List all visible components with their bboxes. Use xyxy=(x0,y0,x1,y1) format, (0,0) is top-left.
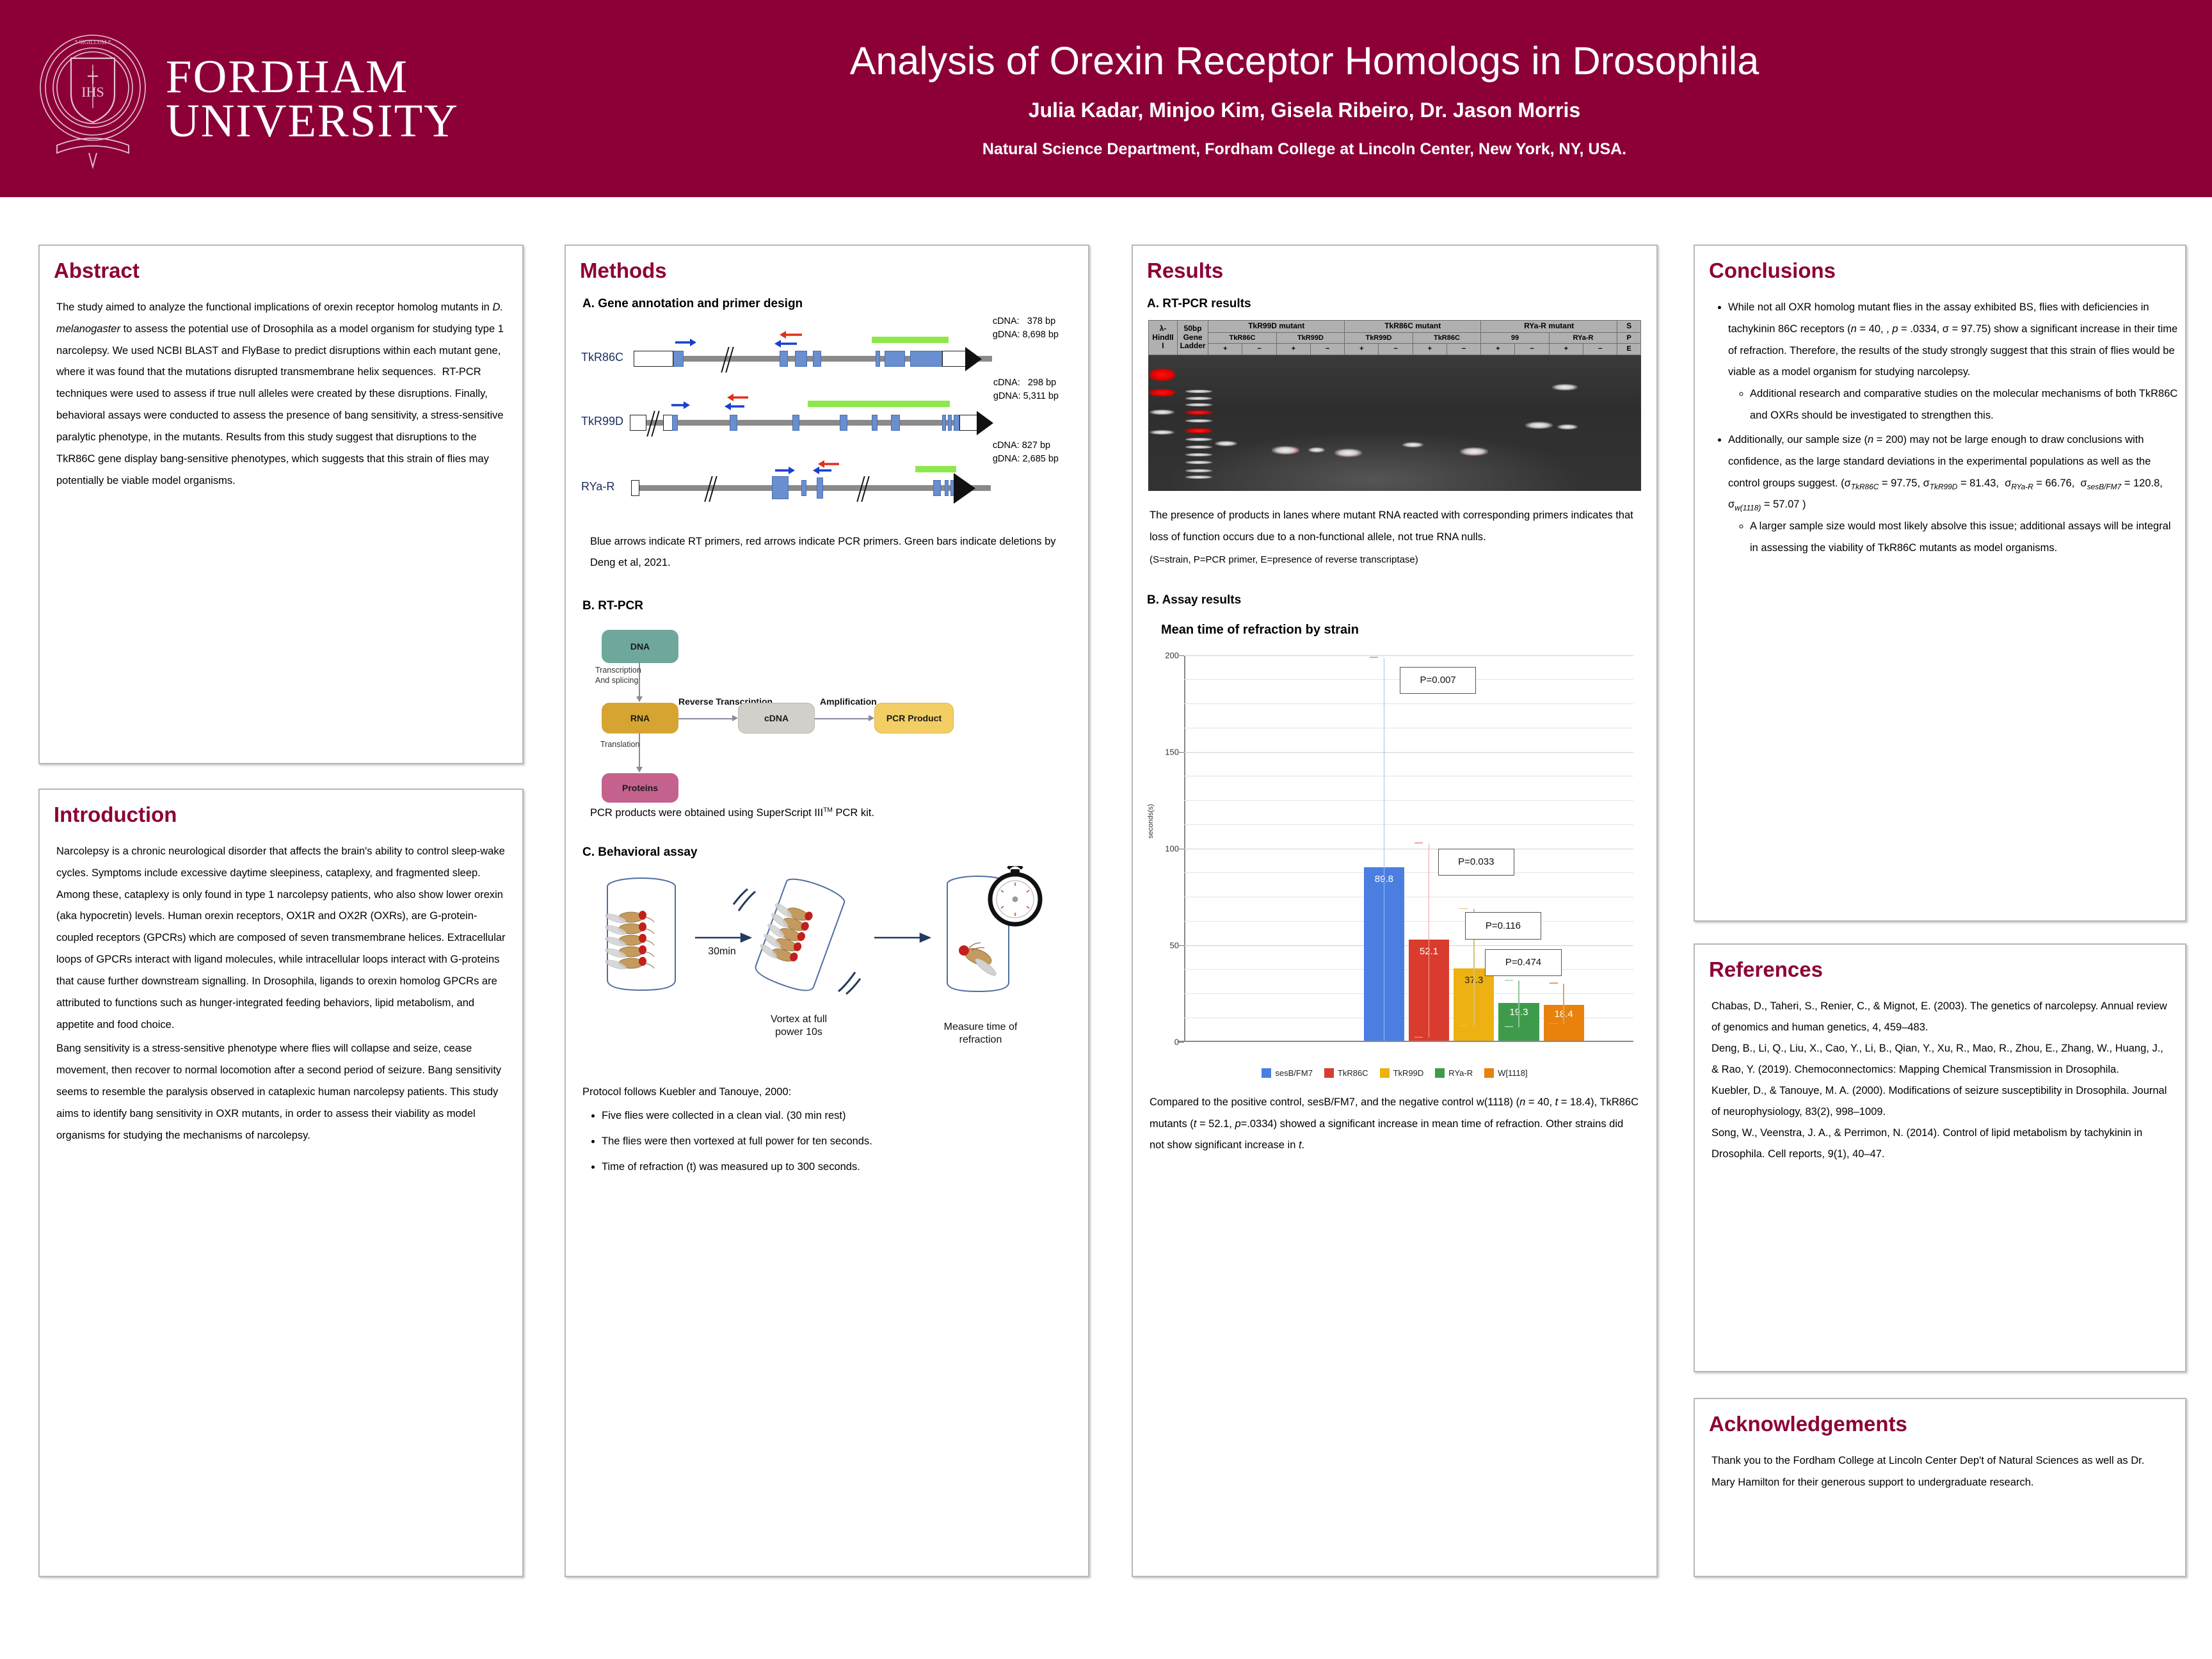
poster-title: Analysis of Orexin Receptor Homologs in … xyxy=(474,38,2135,83)
chart-ytick: 50 xyxy=(1170,940,1179,950)
reference-item: Kuebler, D., & Tanouye, M. A. (2000). Mo… xyxy=(1711,1080,2168,1123)
svg-text:power 10s: power 10s xyxy=(775,1027,822,1038)
flow-node-cdna: cDNA xyxy=(738,703,815,733)
gel-band xyxy=(1525,422,1553,429)
gel-rt-plus: + xyxy=(1208,344,1242,355)
gel-rt-minus: − xyxy=(1583,344,1617,355)
flow-node-dna: DNA xyxy=(602,630,678,663)
gel-row-key-p: P xyxy=(1617,332,1641,344)
chart-ytick: 200 xyxy=(1165,650,1179,660)
pvalue-box-sesb: P=0.007 xyxy=(1400,667,1476,694)
gel-primer-tkr86c: TkR86C xyxy=(1208,332,1277,344)
deletion-bar xyxy=(808,401,950,407)
reference-item: Song, W., Veenstra, J. A., & Perrimon, N… xyxy=(1711,1123,2168,1165)
exon xyxy=(813,351,821,367)
introduction-panel: Introduction Narcolepsy is a chronic neu… xyxy=(38,789,524,1577)
gene-break xyxy=(649,411,658,437)
methods-section-a-heading: A. Gene annotation and primer design xyxy=(582,297,1088,311)
legend-swatch xyxy=(1324,1068,1334,1078)
error-bar xyxy=(1563,984,1564,1024)
arrow-to-measure xyxy=(874,934,929,942)
introduction-heading: Introduction xyxy=(54,803,522,827)
arrow-30min xyxy=(695,934,750,942)
title-block: Analysis of Orexin Receptor Homologs in … xyxy=(474,38,2212,159)
exon xyxy=(840,415,847,431)
gel-rt-minus: − xyxy=(1379,344,1413,355)
fordham-seal-icon: IHS * SIGILLUM * xyxy=(35,25,150,172)
table-row: TkR86C TkR99D TkR99D TkR86C 99 RYa-R P xyxy=(1149,332,1641,344)
legend-item: W[1118] xyxy=(1484,1068,1527,1078)
exon xyxy=(954,415,959,431)
exon xyxy=(948,415,952,431)
error-bar-cap xyxy=(1505,1026,1513,1027)
exon xyxy=(801,480,806,496)
gel-band xyxy=(1150,369,1175,381)
exon xyxy=(772,476,789,499)
gel-lane-table: λ-HindIII 50bpGeneLadder TkR99D mutant T… xyxy=(1148,320,1641,355)
error-bar-cap xyxy=(1550,1023,1558,1025)
exon xyxy=(817,477,823,499)
utr-5prime xyxy=(631,480,639,496)
conclusions-panel: Conclusions While not all OXR homolog mu… xyxy=(1694,244,2186,922)
conclusion-bullet-2: Additionally, our sample size (n = 200) … xyxy=(1728,429,2179,559)
assay-conclusion-text: Compared to the positive control, sesB/F… xyxy=(1150,1092,1640,1157)
error-bar-cap xyxy=(1505,980,1513,981)
flow-label-amplification: Amplification xyxy=(820,696,877,708)
poster-header-banner: IHS * SIGILLUM * FORDHAM UNIVERSITY Anal… xyxy=(0,0,2212,197)
legend-item: RYa-R xyxy=(1435,1068,1473,1078)
flow-arrow-head xyxy=(636,767,643,773)
protocol-list: Five flies were collected in a clean via… xyxy=(602,1104,1071,1180)
exon xyxy=(891,415,900,431)
gel-result-text: The presence of products in lanes where … xyxy=(1150,505,1640,549)
svg-text:refraction: refraction xyxy=(959,1034,1002,1045)
gel-rt-plus: + xyxy=(1345,344,1379,355)
conclusions-list: While not all OXR homolog mutant flies i… xyxy=(1728,297,2179,559)
reference-item: Chabas, D., Taheri, S., Renier, C., & Mi… xyxy=(1711,996,2168,1038)
rt-primer-forward-arrow xyxy=(774,466,795,475)
gel-primer-99: 99 xyxy=(1481,332,1550,344)
exon xyxy=(872,415,878,431)
results-heading: Results xyxy=(1147,259,1656,283)
mean-refraction-bar-chart: seconds(s) 200 150 10 xyxy=(1144,646,1645,1082)
gel-band xyxy=(1552,384,1578,391)
chart-title: Mean time of refraction by strain xyxy=(1161,623,1656,637)
gel-electrophoresis-image xyxy=(1148,355,1641,491)
author-list: Julia Kadar, Minjoo Kim, Gisela Ribeiro,… xyxy=(474,99,2135,122)
error-bar-cap xyxy=(1459,908,1468,910)
pcr-kit-caption: PCR products were obtained using SuperSc… xyxy=(590,803,1064,824)
pcr-primer-reverse-arrow xyxy=(726,393,749,402)
introduction-paragraph-1: Narcolepsy is a chronic neurological dis… xyxy=(56,841,506,1036)
svg-text:* SIGILLUM *: * SIGILLUM * xyxy=(75,39,111,45)
gene-label-tkr86c: TkR86C xyxy=(581,351,623,364)
gene-diagram-caption: Blue arrows indicate RT primers, red arr… xyxy=(590,531,1064,573)
university-branding: IHS * SIGILLUM * FORDHAM UNIVERSITY xyxy=(0,25,474,172)
flow-node-proteins: Proteins xyxy=(602,773,678,803)
gel-band xyxy=(1460,447,1487,456)
conclusion-sublist-1: Additional research and comparative stud… xyxy=(1750,383,2179,427)
gel-row-key-s: S xyxy=(1617,321,1641,333)
gel-band xyxy=(1150,389,1175,396)
legend-item: TkR99D xyxy=(1380,1068,1424,1078)
wordmark-line-2: UNIVERSITY xyxy=(166,99,459,143)
exon xyxy=(730,415,737,431)
deletion-bar xyxy=(915,466,956,472)
gel-band xyxy=(1557,424,1578,429)
abstract-panel: Abstract The study aimed to analyze the … xyxy=(38,244,524,764)
chart-plot-area: 200 150 100 50 0 89.8 52.1 xyxy=(1184,655,1633,1042)
rt-primer-forward-arrow xyxy=(675,338,696,347)
gel-col-lambda: λ-HindIII xyxy=(1149,321,1178,355)
svg-text:Measure time of: Measure time of xyxy=(944,1022,1018,1032)
rt-primer-reverse-arrow xyxy=(812,466,832,475)
methods-section-b-heading: B. RT-PCR xyxy=(582,599,1088,613)
trademark-mark: TM xyxy=(823,807,833,814)
chart-x-axis xyxy=(1178,1041,1633,1042)
legend-label: TkR99D xyxy=(1393,1068,1424,1078)
conclusion-sub-1: Additional research and comparative stud… xyxy=(1750,383,2179,427)
legend-swatch xyxy=(1380,1068,1390,1078)
flow-label-transcription: Transcription And splicing xyxy=(595,666,641,685)
gene-direction-arrowhead xyxy=(977,411,993,435)
gel-band xyxy=(1215,441,1237,446)
error-bar-cap xyxy=(1550,982,1558,984)
university-wordmark: FORDHAM UNIVERSITY xyxy=(166,54,459,143)
results-section-a-heading: A. RT-PCR results xyxy=(1147,297,1656,311)
ryar-bp-note: cDNA: 827 bpgDNA: 2,685 bp xyxy=(993,439,1059,466)
error-bar xyxy=(1384,658,1385,1041)
rt-primer-forward-arrow xyxy=(671,401,690,410)
gel-band xyxy=(1402,442,1424,447)
methods-panel: Methods A. Gene annotation and primer de… xyxy=(565,244,1089,1577)
pcr-primer-reverse-arrow xyxy=(777,330,803,339)
vial-tilted-icon xyxy=(749,873,847,995)
exon xyxy=(885,351,905,367)
chart-y-axis-label: seconds(s) xyxy=(1147,804,1155,838)
gene-direction-arrowhead xyxy=(954,473,975,504)
exon xyxy=(945,480,949,496)
gel-rt-minus: − xyxy=(1310,344,1344,355)
results-panel: Results A. RT-PCR results λ-HindIII 50bp… xyxy=(1132,244,1658,1577)
flow-label-translation: Translation xyxy=(600,740,639,750)
legend-label: sesB/FM7 xyxy=(1275,1068,1313,1078)
table-row: λ-HindIII 50bpGeneLadder TkR99D mutant T… xyxy=(1149,321,1641,333)
gel-figure: λ-HindIII 50bpGeneLadder TkR99D mutant T… xyxy=(1148,320,1641,491)
protocol-item: Five flies were collected in a clean via… xyxy=(602,1104,1071,1128)
results-section-b-heading: B. Assay results xyxy=(1147,593,1656,607)
gene-axis xyxy=(630,420,988,426)
protocol-item: Time of refraction (t) was measured up t… xyxy=(602,1155,1071,1180)
exon xyxy=(876,351,880,367)
acknowledgements-text: Thank you to the Fordham College at Linc… xyxy=(1711,1450,2168,1494)
exon xyxy=(933,480,941,496)
gel-rt-plus: + xyxy=(1276,344,1310,355)
flow-node-rna: RNA xyxy=(602,703,678,733)
conclusion-sub-2: A larger sample size would most likely a… xyxy=(1750,516,2179,559)
error-bar xyxy=(1518,981,1519,1027)
chart-ytick: 100 xyxy=(1165,844,1179,853)
exon xyxy=(780,351,788,367)
utr-3prime xyxy=(942,351,966,367)
flow-arrow-line xyxy=(678,718,733,719)
flow-node-pcr-product: PCR Product xyxy=(874,703,954,733)
references-panel: References Chabas, D., Taheri, S., Renie… xyxy=(1694,943,2186,1372)
gel-rt-plus: + xyxy=(1413,344,1447,355)
gel-band xyxy=(1150,430,1174,435)
gel-rt-minus: − xyxy=(1447,344,1480,355)
gel-rt-minus: − xyxy=(1242,344,1276,355)
chart-ytick: 0 xyxy=(1174,1037,1179,1046)
deletion-bar xyxy=(872,337,949,343)
exon xyxy=(792,415,799,431)
pcr-kit-caption-b: PCR kit. xyxy=(833,807,874,819)
legend-label: RYa-R xyxy=(1448,1068,1473,1078)
abstract-text: The study aimed to analyze the functiona… xyxy=(56,297,506,492)
table-row: +− +− +− +− +− +− E xyxy=(1149,344,1641,355)
gel-rt-plus: + xyxy=(1481,344,1515,355)
exon xyxy=(795,351,807,367)
utr-5prime xyxy=(634,351,673,367)
rtpcr-flow-diagram: DNA Transcription And splicing RNA Trans… xyxy=(591,626,1039,799)
gene-label-tkr99d: TkR99D xyxy=(581,415,623,428)
gel-group-tkr86c-mutant: TkR86C mutant xyxy=(1345,321,1481,333)
gene-break xyxy=(859,476,868,502)
gel-key-legend: (S=strain, P=PCR primer, E=presence of r… xyxy=(1150,552,1640,568)
gel-band xyxy=(1334,449,1362,457)
stopwatch-icon xyxy=(990,866,1040,924)
introduction-paragraph-2: Bang sensitivity is a stress-sensitive p… xyxy=(56,1038,506,1146)
pvalue-box-tkr86c: P=0.033 xyxy=(1438,849,1514,876)
utr-5prime xyxy=(630,415,646,431)
legend-label: W[1118] xyxy=(1498,1068,1527,1078)
gel-band xyxy=(1150,410,1174,415)
gel-ladder-lane xyxy=(1185,388,1212,486)
references-heading: References xyxy=(1709,958,2185,982)
exon xyxy=(910,351,942,367)
legend-label: TkR86C xyxy=(1338,1068,1368,1078)
legend-item: sesB/FM7 xyxy=(1262,1068,1313,1078)
legend-item: TkR86C xyxy=(1324,1068,1368,1078)
utr-3prime xyxy=(959,415,977,431)
conclusions-heading: Conclusions xyxy=(1709,259,2185,283)
flow-arrow-head xyxy=(732,715,738,721)
gel-primer-tkr99d: TkR99D xyxy=(1345,332,1413,344)
svg-text:Vortex at full: Vortex at full xyxy=(771,1014,827,1025)
acknowledgements-heading: Acknowledgements xyxy=(1709,1412,2185,1436)
legend-swatch xyxy=(1262,1068,1271,1078)
legend-swatch xyxy=(1435,1068,1445,1078)
gene-track-ryar: cDNA: 827 bpgDNA: 2,685 bp RYa-R xyxy=(577,467,1077,512)
rt-primer-reverse-arrow xyxy=(773,339,797,348)
conclusion-bullet-1: While not all OXR homolog mutant flies i… xyxy=(1728,297,2179,427)
behavioral-assay-illustration: 30min Vortex at full power 10s Measure t… xyxy=(573,866,1080,1077)
exon xyxy=(672,415,678,431)
svg-text:30min: 30min xyxy=(708,946,736,957)
chart-ytick: 150 xyxy=(1165,747,1179,757)
gel-col-ladder: 50bpGeneLadder xyxy=(1177,321,1208,355)
gene-direction-arrowhead xyxy=(965,347,982,371)
svg-text:IHS: IHS xyxy=(81,84,104,100)
protocol-item: The flies were then vortexed at full pow… xyxy=(602,1130,1071,1154)
gel-band xyxy=(1308,447,1325,452)
gene-break xyxy=(707,476,716,502)
chart-legend: sesB/FM7 TkR86C TkR99D RYa-R W[1118] xyxy=(1144,1068,1645,1078)
tkr99d-bp-note: cDNA: 298 bpgDNA: 5,311 bp xyxy=(993,376,1059,403)
gel-primer-tkr99d: TkR99D xyxy=(1276,332,1345,344)
pvalue-box-tkr99d: P=0.116 xyxy=(1465,912,1541,939)
pvalue-box-ryar: P=0.474 xyxy=(1485,949,1561,976)
error-bar-cap xyxy=(1370,657,1378,658)
error-bar-cap xyxy=(1415,1037,1423,1038)
gene-annotation-diagram: cDNA: 378 bpgDNA: 8,698 bp TkR86C xyxy=(577,321,1077,513)
gene-break xyxy=(723,347,732,373)
flow-arrow-line xyxy=(815,718,870,719)
error-bar xyxy=(1429,844,1430,1038)
wordmark-line-1: FORDHAM xyxy=(166,54,459,99)
pcr-kit-caption-a: PCR products were obtained using SuperSc… xyxy=(590,807,823,819)
gene-label-ryar: RYa-R xyxy=(581,480,614,493)
gel-row-key-e: E xyxy=(1617,344,1641,355)
legend-swatch xyxy=(1484,1068,1494,1078)
gel-rt-minus: − xyxy=(1515,344,1549,355)
error-bar-cap xyxy=(1415,842,1423,844)
methods-section-c-heading: C. Behavioral assay xyxy=(582,846,1088,860)
gel-primer-tkr86c: TkR86C xyxy=(1413,332,1481,344)
rt-primer-reverse-arrow xyxy=(723,402,745,411)
tkr86c-bp-note: cDNA: 378 bpgDNA: 8,698 bp xyxy=(993,315,1059,342)
gel-band xyxy=(1272,446,1299,454)
conclusion-sublist-2: A larger sample size would most likely a… xyxy=(1750,516,2179,559)
flow-arrow-head xyxy=(636,696,643,702)
methods-heading: Methods xyxy=(580,259,1088,283)
exon xyxy=(673,351,684,367)
exon xyxy=(942,415,946,431)
gel-primer-ryar: RYa-R xyxy=(1549,332,1617,344)
gel-group-ryar-mutant: RYa-R mutant xyxy=(1481,321,1617,333)
flow-arrow-line xyxy=(639,733,640,768)
gel-group-tkr99d-mutant: TkR99D mutant xyxy=(1208,321,1345,333)
gel-rt-plus: + xyxy=(1549,344,1583,355)
abstract-heading: Abstract xyxy=(54,259,522,283)
protocol-intro: Protocol follows Kuebler and Tanouye, 20… xyxy=(582,1084,1071,1100)
error-bar-cap xyxy=(1459,1025,1468,1027)
reference-item: Deng, B., Li, Q., Liu, X., Cao, Y., Li, … xyxy=(1711,1038,2168,1080)
acknowledgements-panel: Acknowledgements Thank you to the Fordha… xyxy=(1694,1398,2186,1577)
affiliation: Natural Science Department, Fordham Coll… xyxy=(474,140,2135,159)
flow-arrow-head xyxy=(869,715,874,721)
